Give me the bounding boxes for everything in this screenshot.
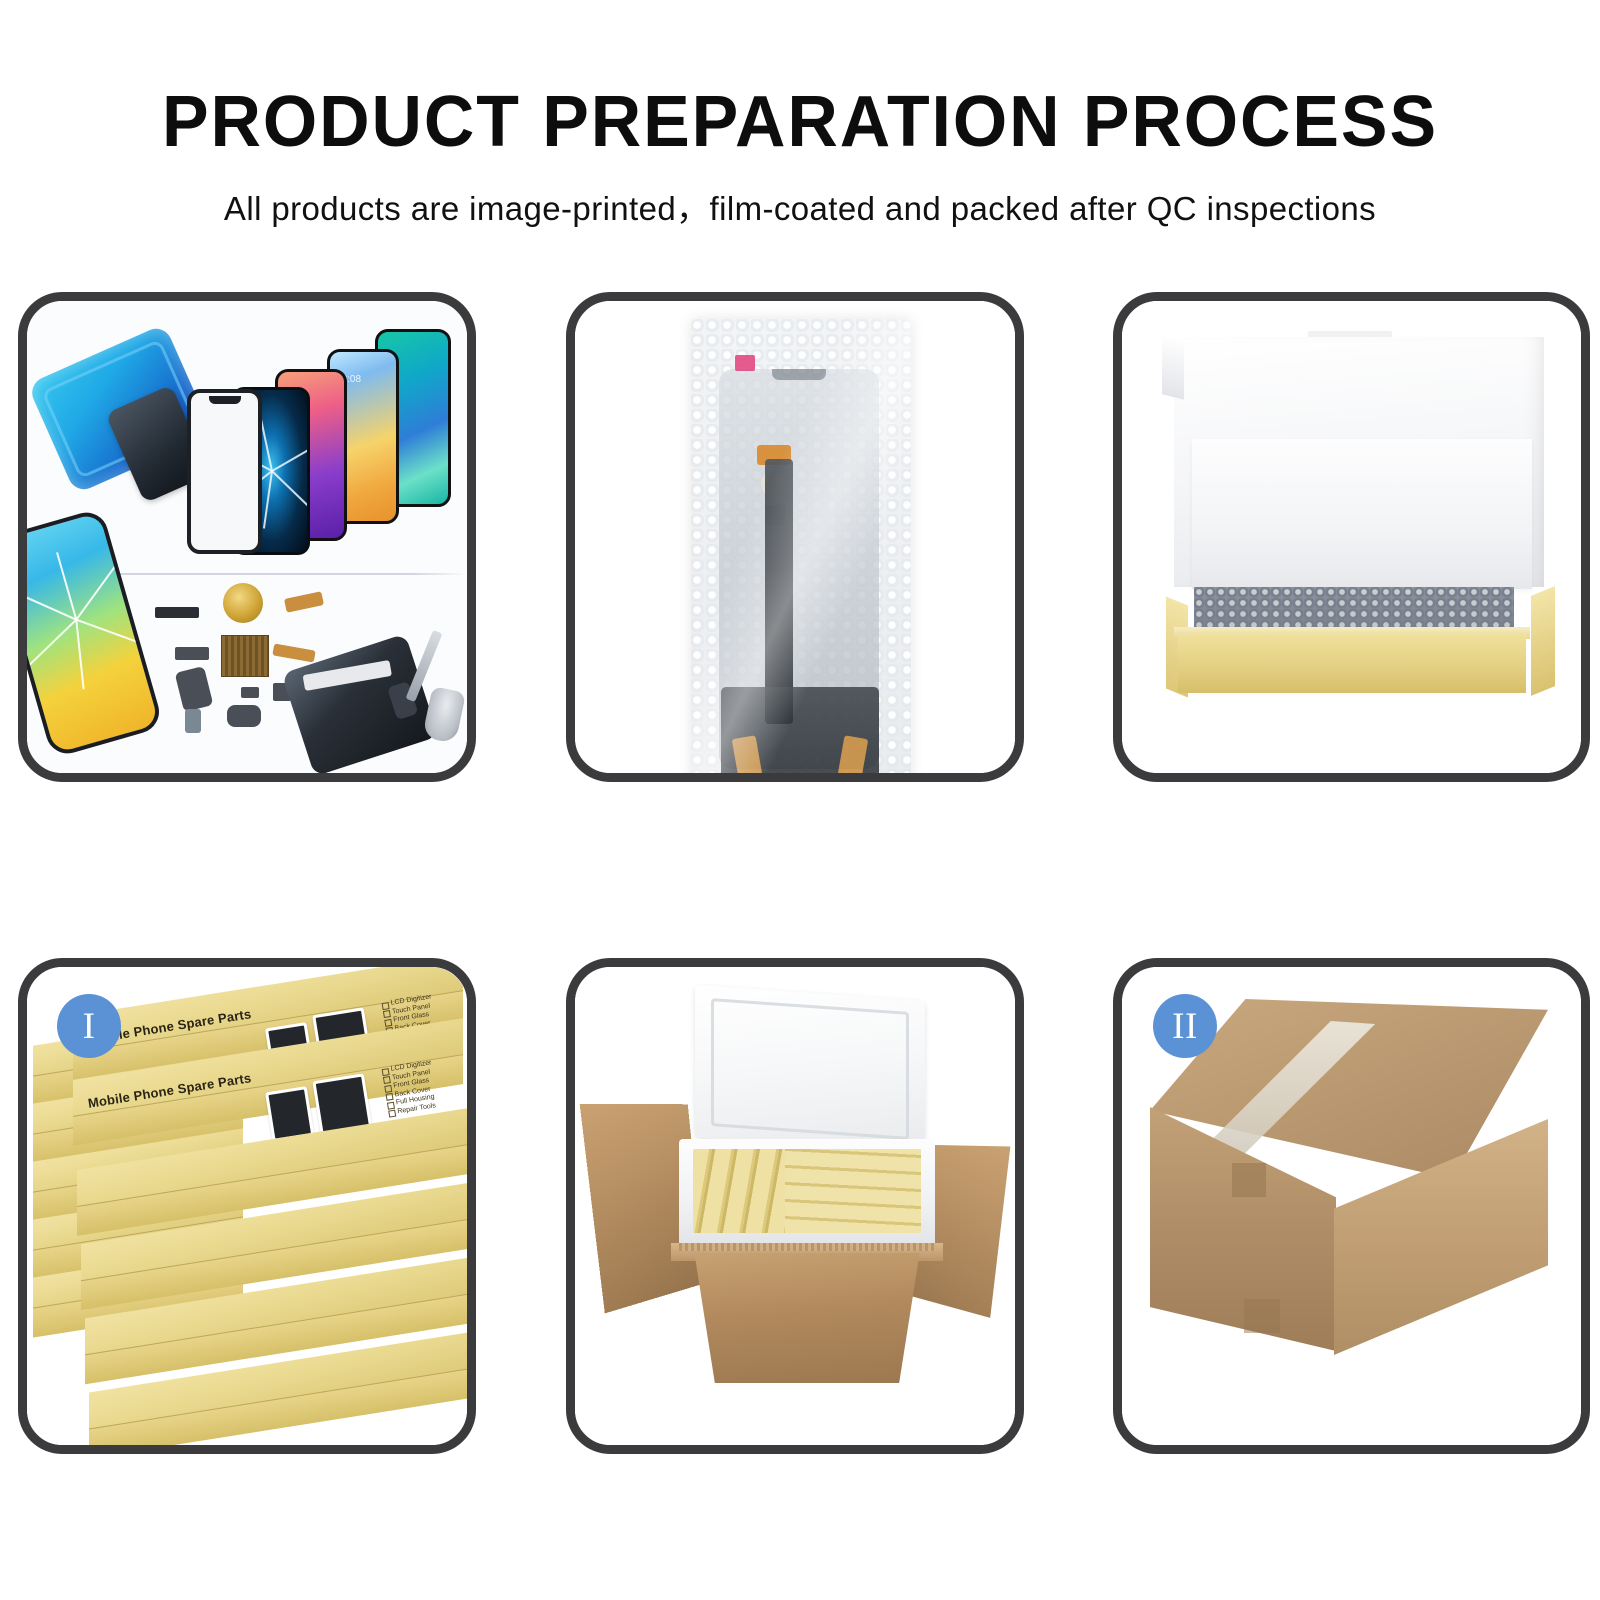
retail-box-fourth (81, 1213, 467, 1253)
step-2-image (575, 301, 1015, 773)
step-5-image (575, 967, 1015, 1445)
micro-part-icon (241, 687, 259, 698)
retail-box-third (77, 1139, 467, 1179)
step-card-2: II (566, 292, 1024, 782)
chip-part-icon (155, 607, 199, 618)
retail-box-second: Mobile Phone Spare Parts LCD Digitizer T… (73, 1049, 463, 1089)
step-1-image: 08:08 (27, 301, 467, 773)
foam-insert-icon (1192, 439, 1532, 589)
gold-boxes-stack-icon (785, 1149, 921, 1233)
process-steps-grid: 08:08 (0, 0, 1600, 1600)
taptic-part-icon (227, 705, 261, 727)
box-lid-side-flap-icon (1162, 334, 1184, 399)
step-badge-2: II (1153, 994, 1217, 1058)
carton-tab-upper-icon (1232, 1163, 1266, 1197)
carton-front-icon (679, 1253, 935, 1383)
product-preparation-infographic: PRODUCT PREPARATION PROCESS All products… (0, 0, 1600, 1600)
step-card-5: V (566, 958, 1024, 1454)
step-badge-1: I (57, 994, 121, 1058)
sim-tray-part-icon (185, 709, 201, 733)
step-card-3: III (1113, 292, 1590, 782)
step-3-image (1122, 301, 1581, 773)
retail-box-top: Mobile Phone Spare Parts LCD Digitizer T… (73, 985, 463, 1025)
gold-box-base-icon (1178, 635, 1526, 693)
connector-part-icon (175, 647, 209, 660)
carton-tab-lower-icon (1244, 1299, 1280, 1333)
ic-array-part-icon (221, 635, 269, 677)
bubble-wrap-sleeve-icon (691, 319, 911, 773)
retail-box-fifth (85, 1287, 467, 1327)
wireless-coil-part-icon (223, 583, 263, 623)
carton-corrugation-icon (679, 1243, 935, 1251)
retail-box-sixth (89, 1361, 467, 1401)
retail-box-checklist: LCD Digitizer Touch Panel Front Glass Ba… (381, 1059, 439, 1117)
plastic-sheen-overlay (691, 319, 911, 773)
tempered-glass-icon (187, 389, 262, 554)
box-base-right-icon (1531, 586, 1555, 696)
styrofoam-lid-icon (695, 985, 925, 1153)
step-card-1: 08:08 (18, 292, 476, 782)
